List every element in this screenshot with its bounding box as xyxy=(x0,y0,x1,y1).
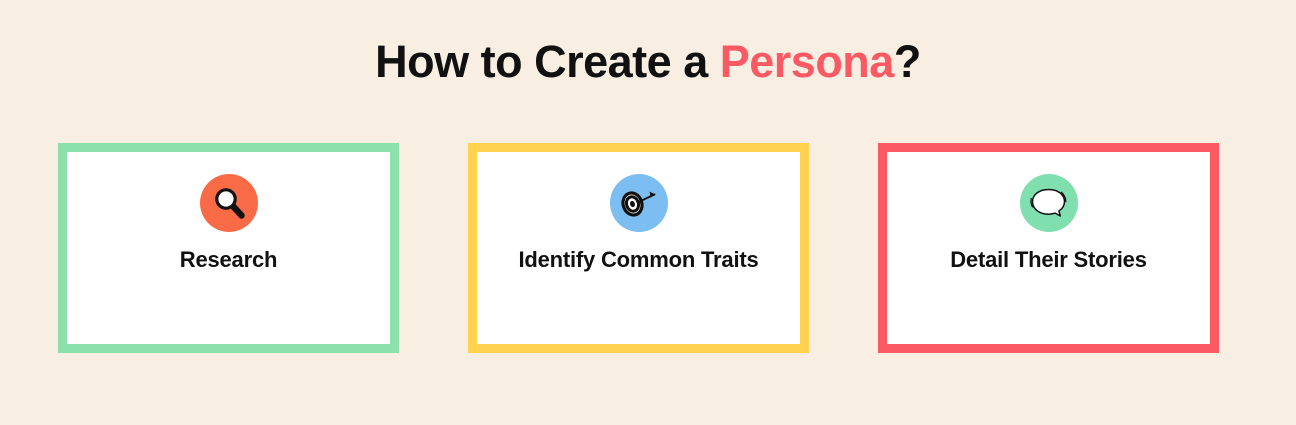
card-detail-their-stories[interactable]: Detail Their Stories xyxy=(878,143,1219,353)
target-arrow-icon-badge xyxy=(610,174,668,232)
page-title: How to Create a Persona? xyxy=(0,38,1296,85)
card-research[interactable]: Research xyxy=(58,143,399,353)
target-arrow-icon xyxy=(618,183,660,223)
speech-bubble-icon xyxy=(1028,183,1070,223)
page-title-accent: Persona xyxy=(720,36,894,87)
card-identify-common-traits-label: Identify Common Traits xyxy=(518,246,758,274)
magnifier-icon-badge xyxy=(200,174,258,232)
magnifier-icon xyxy=(209,183,249,223)
card-research-label: Research xyxy=(180,246,277,274)
card-row: Research Identify Common Traits xyxy=(58,143,1219,353)
page-title-lead: How to Create a xyxy=(375,36,720,87)
speech-bubble-icon-badge xyxy=(1020,174,1078,232)
card-detail-their-stories-label: Detail Their Stories xyxy=(950,246,1147,274)
card-identify-common-traits[interactable]: Identify Common Traits xyxy=(468,143,809,353)
page-title-suffix: ? xyxy=(894,36,921,87)
slide-canvas: How to Create a Persona? Research xyxy=(0,0,1296,425)
